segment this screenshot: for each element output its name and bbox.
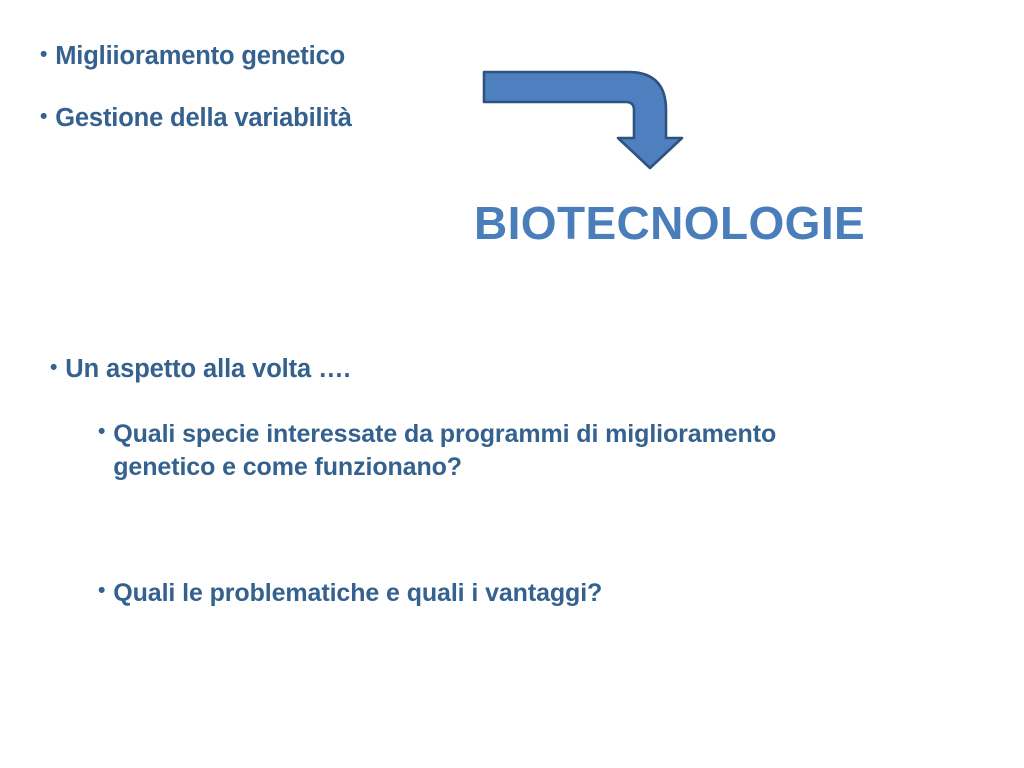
lower-bullet-level2-item: • Quali le problematiche e quali i vanta…	[98, 577, 838, 610]
bullet-point-icon: •	[40, 106, 47, 127]
page-title: BIOTECNOLOGIE	[474, 196, 865, 250]
bent-arrow-right-down-icon	[476, 62, 692, 178]
bullet-point-icon: •	[50, 357, 57, 378]
bent-arrow-svg	[476, 62, 692, 178]
lower-bullet-level2-item: • Quali specie interessate da programmi …	[98, 418, 838, 484]
bullet-point-icon: •	[98, 580, 105, 601]
top-bullet-item: • Gestione della variabilità	[40, 104, 352, 133]
lower-bullet-level2-label: Quali specie interessate da programmi di…	[113, 418, 838, 484]
slide-canvas: • Migliioramento genetico • Gestione del…	[0, 0, 1024, 768]
top-bullet-label: Gestione della variabilità	[55, 104, 352, 133]
lower-bullet-level1-item: • Un aspetto alla volta ….	[50, 355, 351, 384]
top-bullet-item: • Migliioramento genetico	[40, 42, 345, 71]
bullet-point-icon: •	[40, 44, 47, 65]
top-bullet-label: Migliioramento genetico	[55, 42, 345, 71]
lower-bullet-level1-label: Un aspetto alla volta ….	[65, 355, 350, 384]
lower-bullet-level2-label: Quali le problematiche e quali i vantagg…	[113, 577, 602, 610]
bent-arrow-path	[484, 72, 682, 168]
bullet-point-icon: •	[98, 421, 105, 442]
